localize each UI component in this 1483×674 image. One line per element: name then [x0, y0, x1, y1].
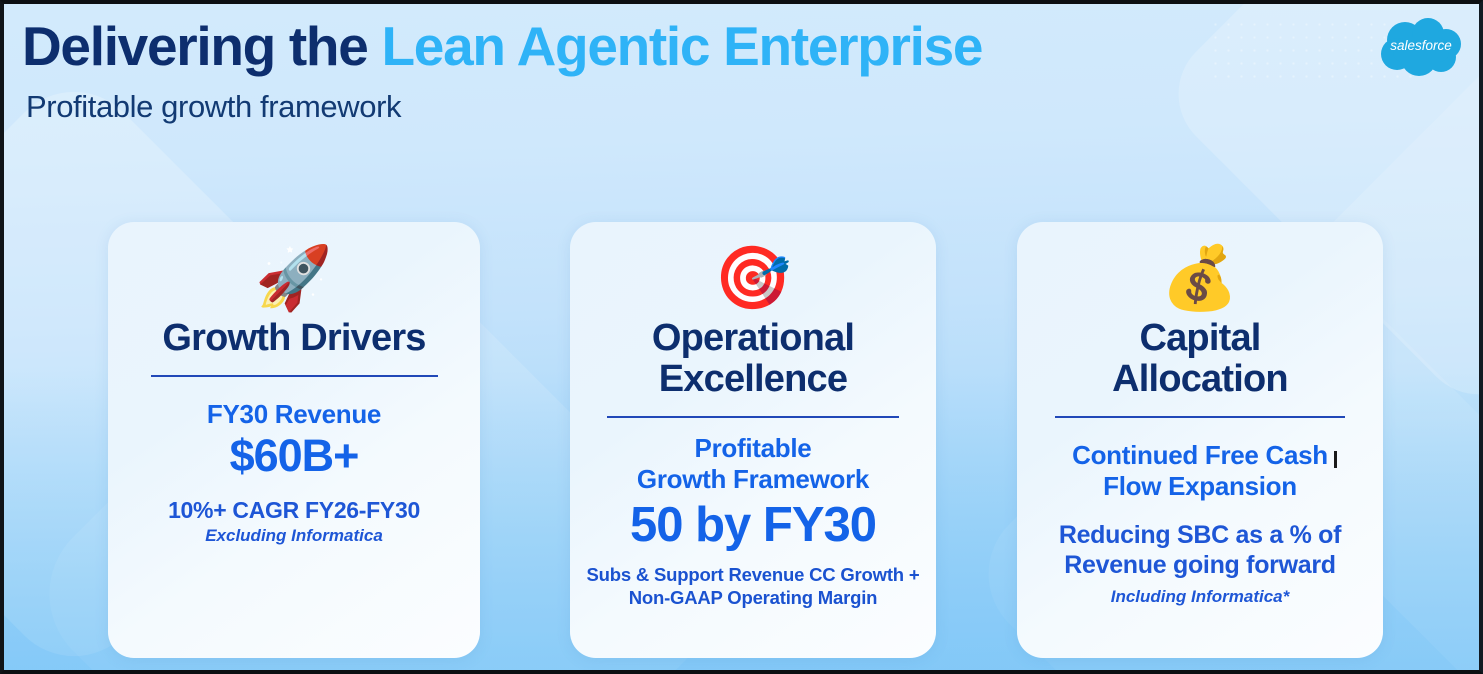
metric-value-revenue: $60B+	[230, 430, 359, 481]
card-operational-excellence[interactable]: 🎯 Operational Excellence Profitable Grow…	[570, 222, 936, 658]
metric-label-line2: Growth Framework	[637, 464, 869, 495]
salesforce-logo-text: salesforce	[1390, 38, 1452, 53]
metric-value-50-by-fy30: 50 by FY30	[630, 497, 876, 553]
slide-frame: Delivering the Lean Agentic Enterprise P…	[0, 0, 1483, 674]
metric-note-including-informatica: Including Informatica*	[1111, 586, 1290, 607]
card-capital-allocation[interactable]: 💰 Capital Allocation Continued Free Cash…	[1017, 222, 1383, 658]
metric-detail-line2: Non-GAAP Operating Margin	[587, 586, 920, 609]
card-title-line1: Capital	[1112, 318, 1288, 359]
card-body-capital-allocation: Continued Free Cash Flow Expansion Reduc…	[1033, 418, 1367, 658]
page-subtitle: Profitable growth framework	[26, 88, 1359, 126]
card-growth-drivers[interactable]: 🚀 Growth Drivers FY30 Revenue $60B+ 10%+…	[108, 222, 480, 658]
metric-label-fy30-revenue: FY30 Revenue	[207, 399, 381, 430]
metric-label-line1: Continued Free Cash	[1072, 440, 1328, 471]
slide-header: Delivering the Lean Agentic Enterprise P…	[22, 10, 1359, 126]
salesforce-cloud-logo: salesforce	[1371, 14, 1471, 84]
card-title-operational-excellence: Operational Excellence	[652, 318, 854, 400]
metric-sub-line2: Revenue going forward	[1059, 550, 1341, 580]
card-title-growth-drivers: Growth Drivers	[162, 318, 425, 359]
card-body-operational-excellence: Profitable Growth Framework 50 by FY30 S…	[586, 418, 920, 658]
metric-detail-line1: Subs & Support Revenue CC Growth +	[587, 563, 920, 586]
framework-cards: 🚀 Growth Drivers FY30 Revenue $60B+ 10%+…	[4, 218, 1483, 658]
page-title: Delivering the Lean Agentic Enterprise	[22, 10, 1359, 82]
metric-label-free-cash-flow: Continued Free Cash Flow Expansion	[1072, 440, 1328, 502]
money-bag-emoji: 💰	[1161, 244, 1238, 314]
page-title-accent: Lean Agentic Enterprise	[382, 15, 983, 77]
text-cursor-artifact	[1334, 451, 1337, 468]
metric-label-profitable-growth: Profitable Growth Framework	[637, 433, 869, 495]
metric-note-excluding-informatica: Excluding Informatica	[205, 525, 383, 546]
card-title-line2: Excellence	[652, 359, 854, 400]
target-dart-emoji: 🎯	[714, 244, 791, 314]
card-title-line2: Allocation	[1112, 359, 1288, 400]
rocket-emoji: 🚀	[255, 244, 332, 314]
metric-sub-cagr: 10%+ CAGR FY26-FY30	[168, 497, 420, 524]
metric-sub-line1: Reducing SBC as a % of	[1059, 520, 1341, 550]
metric-label-line1: Profitable	[637, 433, 869, 464]
metric-detail-operational: Subs & Support Revenue CC Growth + Non-G…	[587, 563, 920, 609]
page-title-primary: Delivering the	[22, 15, 382, 77]
card-body-growth-drivers: FY30 Revenue $60B+ 10%+ CAGR FY26-FY30 E…	[124, 377, 464, 658]
metric-sub-reducing-sbc: Reducing SBC as a % of Revenue going for…	[1059, 520, 1341, 580]
metric-label-line2: Flow Expansion	[1072, 471, 1328, 502]
card-title-line1: Operational	[652, 318, 854, 359]
card-title-capital-allocation: Capital Allocation	[1112, 318, 1288, 400]
